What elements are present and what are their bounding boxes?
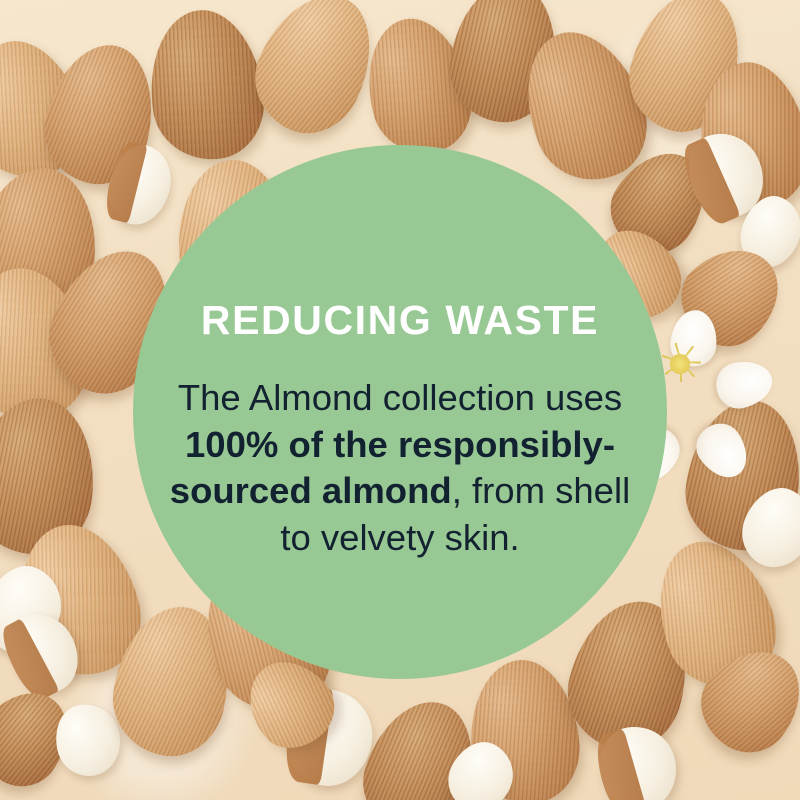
- badge-body-text: The Almond collection uses 100% of the r…: [165, 375, 635, 562]
- body-rest-2: , from shell: [452, 470, 631, 511]
- body-line-3: to velvety skin.: [280, 517, 519, 558]
- green-badge-circle: REDUCING WASTE The Almond collection use…: [133, 145, 667, 679]
- whole-almond: [140, 3, 272, 167]
- body-bold-2: sourced almond: [170, 470, 452, 511]
- body-bold-1: 100% of the responsibly-: [185, 424, 615, 465]
- body-line-1: The Almond collection uses: [178, 377, 622, 418]
- blossom-center: [670, 354, 690, 374]
- badge-heading: REDUCING WASTE: [201, 300, 599, 341]
- marketing-graphic-canvas: REDUCING WASTE The Almond collection use…: [0, 0, 800, 800]
